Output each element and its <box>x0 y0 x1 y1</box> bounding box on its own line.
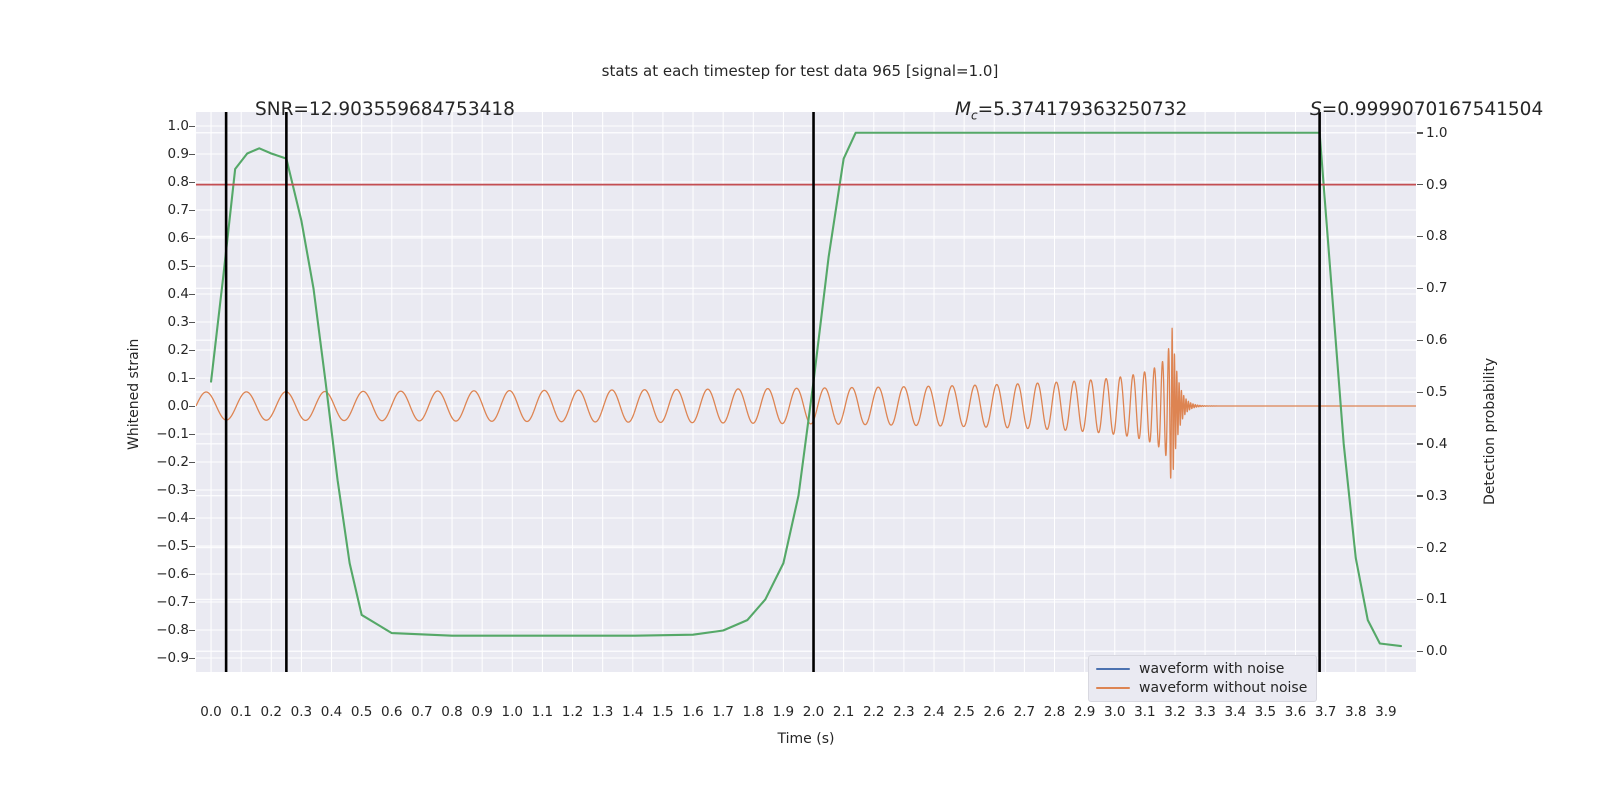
y-tickmark-left-11 <box>189 434 195 435</box>
y-tickmark-left-3 <box>189 210 195 211</box>
score-annotation: S=0.9999070167541504 <box>1310 99 1543 120</box>
y-tick-right-6: 0.4 <box>1426 436 1447 452</box>
x-tick-37: 3.7 <box>1315 704 1336 720</box>
y-tickmark-right-1 <box>1417 184 1423 185</box>
legend[interactable]: waveform with noise waveform without noi… <box>1088 655 1317 702</box>
x-tick-29: 2.9 <box>1074 704 1095 720</box>
y-tick-left-9: 0.1 <box>168 370 189 386</box>
y-tick-left-13: −0.3 <box>156 482 189 498</box>
y-tick-right-2: 0.8 <box>1426 228 1447 244</box>
x-tick-8: 0.8 <box>441 704 462 720</box>
x-tick-17: 1.7 <box>712 704 733 720</box>
y-tick-left-11: −0.1 <box>156 426 189 442</box>
y-tick-left-7: 0.3 <box>168 314 189 330</box>
y-tickmark-left-6 <box>189 294 195 295</box>
y-tickmark-left-1 <box>189 154 195 155</box>
chart-title: stats at each timestep for test data 965… <box>0 62 1600 80</box>
x-tick-1: 0.1 <box>230 704 251 720</box>
y-tick-right-5: 0.5 <box>1426 384 1447 400</box>
y-tickmark-right-2 <box>1417 236 1423 237</box>
y-tickmark-right-7 <box>1417 495 1423 496</box>
y-tickmark-left-8 <box>189 350 195 351</box>
x-tick-32: 3.2 <box>1164 704 1185 720</box>
x-tick-6: 0.6 <box>381 704 402 720</box>
series-waveform-without-noise <box>196 328 1416 478</box>
y-tickmark-left-2 <box>189 182 195 183</box>
x-tick-22: 2.2 <box>863 704 884 720</box>
y-tickmark-left-16 <box>189 574 195 575</box>
legend-swatch-orange <box>1096 687 1130 689</box>
y-tickmark-right-6 <box>1417 443 1423 444</box>
x-tick-36: 3.6 <box>1285 704 1306 720</box>
y-tick-left-17: −0.7 <box>156 594 189 610</box>
snr-text: SNR=12.903559684753418 <box>255 99 515 120</box>
x-tick-35: 3.5 <box>1255 704 1276 720</box>
y-tickmark-right-5 <box>1417 392 1423 393</box>
y-tick-left-1: 0.9 <box>168 146 189 162</box>
y-tick-right-0: 1.0 <box>1426 125 1447 141</box>
y-tickmark-right-8 <box>1417 547 1423 548</box>
figure-canvas: stats at each timestep for test data 965… <box>0 0 1600 800</box>
y-tick-right-8: 0.2 <box>1426 540 1447 556</box>
x-tick-9: 0.9 <box>471 704 492 720</box>
x-tick-31: 3.1 <box>1134 704 1155 720</box>
chart-svg <box>196 112 1416 672</box>
y-tickmark-right-0 <box>1417 132 1423 133</box>
x-tick-25: 2.5 <box>953 704 974 720</box>
y-tick-right-4: 0.6 <box>1426 332 1447 348</box>
y-tick-left-5: 0.5 <box>168 258 189 274</box>
y-tickmark-right-10 <box>1417 651 1423 652</box>
x-tick-21: 2.1 <box>833 704 854 720</box>
y-tickmark-left-7 <box>189 322 195 323</box>
chirp-mass-annotation: Mc=5.374179363250732 <box>955 99 1187 123</box>
y-tick-left-6: 0.4 <box>168 286 189 302</box>
x-tick-13: 1.3 <box>592 704 613 720</box>
y-tick-right-10: 0.0 <box>1426 643 1447 659</box>
legend-item-waveform-with-noise[interactable]: waveform with noise <box>1096 661 1307 677</box>
x-tick-16: 1.6 <box>682 704 703 720</box>
y-tick-left-15: −0.5 <box>156 538 189 554</box>
y-tick-left-10: 0.0 <box>168 398 189 414</box>
y-tickmark-left-9 <box>189 378 195 379</box>
chirp-mass-subscript: c <box>971 109 978 123</box>
x-tick-34: 3.4 <box>1225 704 1246 720</box>
score-symbol: S <box>1310 99 1322 120</box>
x-tick-23: 2.3 <box>893 704 914 720</box>
chirp-mass-symbol: M <box>955 99 971 120</box>
x-tick-20: 2.0 <box>803 704 824 720</box>
x-tick-2: 0.2 <box>261 704 282 720</box>
y-tick-left-12: −0.2 <box>156 454 189 470</box>
x-tick-0: 0.0 <box>200 704 221 720</box>
y-axis-right-label: Detection probability <box>1482 358 1498 505</box>
x-tick-12: 1.2 <box>562 704 583 720</box>
y-tick-left-2: 0.8 <box>168 174 189 190</box>
snr-annotation: SNR=12.903559684753418 <box>255 99 515 120</box>
x-axis-label: Time (s) <box>196 731 1416 747</box>
x-tick-4: 0.4 <box>321 704 342 720</box>
grid-lines <box>196 112 1416 672</box>
x-tick-27: 2.7 <box>1014 704 1035 720</box>
y-tickmark-left-4 <box>189 238 195 239</box>
legend-label-waveform-with-noise: waveform with noise <box>1139 661 1284 677</box>
y-tickmark-left-0 <box>189 126 195 127</box>
x-tick-14: 1.4 <box>622 704 643 720</box>
y-tick-right-7: 0.3 <box>1426 488 1447 504</box>
x-tick-11: 1.1 <box>532 704 553 720</box>
legend-item-waveform-without-noise[interactable]: waveform without noise <box>1096 680 1307 696</box>
plot-area <box>196 112 1416 672</box>
y-tickmark-left-15 <box>189 546 195 547</box>
y-tickmark-right-4 <box>1417 340 1423 341</box>
chirp-mass-value: =5.374179363250732 <box>978 99 1188 120</box>
y-tickmark-left-18 <box>189 630 195 631</box>
x-tick-3: 0.3 <box>291 704 312 720</box>
y-tick-right-1: 0.9 <box>1426 177 1447 193</box>
x-tick-19: 1.9 <box>773 704 794 720</box>
x-tick-39: 3.9 <box>1375 704 1396 720</box>
y-tickmark-left-14 <box>189 518 195 519</box>
y-tickmark-right-3 <box>1417 288 1423 289</box>
y-tickmark-left-5 <box>189 266 195 267</box>
y-tickmark-right-9 <box>1417 599 1423 600</box>
x-tick-7: 0.7 <box>411 704 432 720</box>
y-tick-left-14: −0.4 <box>156 510 189 526</box>
x-tick-10: 1.0 <box>502 704 523 720</box>
x-tick-33: 3.3 <box>1194 704 1215 720</box>
y-tick-right-9: 0.1 <box>1426 591 1447 607</box>
y-tickmark-left-13 <box>189 490 195 491</box>
y-tick-left-19: −0.9 <box>156 650 189 666</box>
y-tick-left-16: −0.6 <box>156 566 189 582</box>
y-tick-left-3: 0.7 <box>168 202 189 218</box>
x-tick-15: 1.5 <box>652 704 673 720</box>
y-tick-left-8: 0.2 <box>168 342 189 358</box>
y-tick-left-18: −0.8 <box>156 622 189 638</box>
y-tickmark-left-10 <box>189 406 195 407</box>
y-axis-left-label: Whitened strain <box>126 339 142 450</box>
y-tickmark-left-19 <box>189 658 195 659</box>
legend-swatch-blue <box>1096 668 1130 670</box>
x-tick-28: 2.8 <box>1044 704 1065 720</box>
score-value: =0.9999070167541504 <box>1322 99 1543 120</box>
y-tickmark-left-17 <box>189 602 195 603</box>
legend-label-waveform-without-noise: waveform without noise <box>1139 680 1307 696</box>
y-tick-left-4: 0.6 <box>168 230 189 246</box>
x-tick-26: 2.6 <box>984 704 1005 720</box>
x-tick-5: 0.5 <box>351 704 372 720</box>
y-tick-left-0: 1.0 <box>168 118 189 134</box>
x-tick-38: 3.8 <box>1345 704 1366 720</box>
x-tick-30: 3.0 <box>1104 704 1125 720</box>
x-tick-24: 2.4 <box>923 704 944 720</box>
y-tick-right-3: 0.7 <box>1426 280 1447 296</box>
y-tickmark-left-12 <box>189 462 195 463</box>
chirp-waveform-path <box>196 328 1416 478</box>
x-tick-18: 1.8 <box>743 704 764 720</box>
